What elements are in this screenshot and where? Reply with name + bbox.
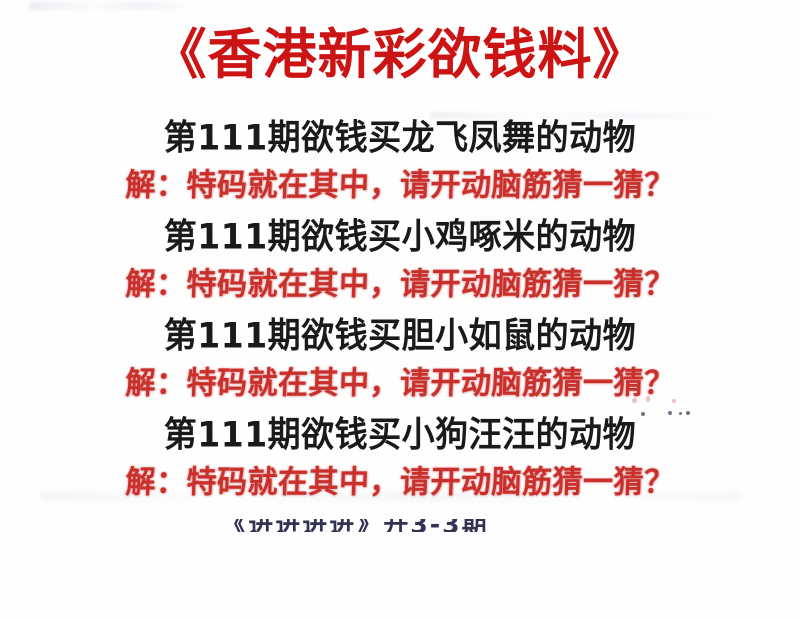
scan-speck bbox=[686, 411, 690, 415]
entry-block: 第111期欲钱买胆小如鼠的动物 解：特码就在其中，请开动脑筋猜一猜？ bbox=[0, 310, 800, 409]
entry-answer: 解：特码就在其中，请开动脑筋猜一猜？ bbox=[0, 360, 800, 408]
entry-block: 第111期欲钱买小狗汪汪的动物 解：特码就在其中，请开动脑筋猜一猜？ bbox=[0, 409, 800, 508]
scan-speck bbox=[672, 399, 676, 403]
entry-list: 第111期欲钱买龙飞凤舞的动物 解：特码就在其中，请开动脑筋猜一猜？ 第111期… bbox=[0, 112, 800, 508]
scan-speck bbox=[632, 398, 637, 403]
scan-speck bbox=[679, 412, 682, 415]
entry-answer: 解：特码就在其中，请开动脑筋猜一猜？ bbox=[0, 261, 800, 309]
entry-question: 第111期欲钱买小鸡啄米的动物 bbox=[0, 209, 800, 264]
lottery-poster-page: { "page": { "background_color": "#ffffff… bbox=[0, 0, 800, 619]
scan-speck bbox=[668, 411, 672, 415]
entry-question: 第111期欲钱买小狗汪汪的动物 bbox=[0, 407, 800, 462]
page-title: 《香港新彩欲钱料》 bbox=[0, 22, 800, 88]
entry-question: 第111期欲钱买胆小如鼠的动物 bbox=[0, 308, 800, 363]
footer-text: 《进进进进》开3-3期 bbox=[0, 519, 755, 532]
entry-answer: 解：特码就在其中，请开动脑筋猜一猜？ bbox=[0, 162, 800, 210]
entry-block: 第111期欲钱买小鸡啄米的动物 解：特码就在其中，请开动脑筋猜一猜？ bbox=[0, 211, 800, 310]
entry-answer: 解：特码就在其中，请开动脑筋猜一猜？ bbox=[0, 459, 800, 507]
footer-clipped-region: 《进进进进》开3-3期 bbox=[0, 519, 800, 532]
entry-block: 第111期欲钱买龙飞凤舞的动物 解：特码就在其中，请开动脑筋猜一猜？ bbox=[0, 112, 800, 211]
scan-speck bbox=[641, 412, 645, 416]
scan-speck bbox=[646, 396, 650, 402]
entry-question: 第111期欲钱买龙飞凤舞的动物 bbox=[0, 110, 800, 165]
scan-noise-top bbox=[30, 2, 190, 10]
